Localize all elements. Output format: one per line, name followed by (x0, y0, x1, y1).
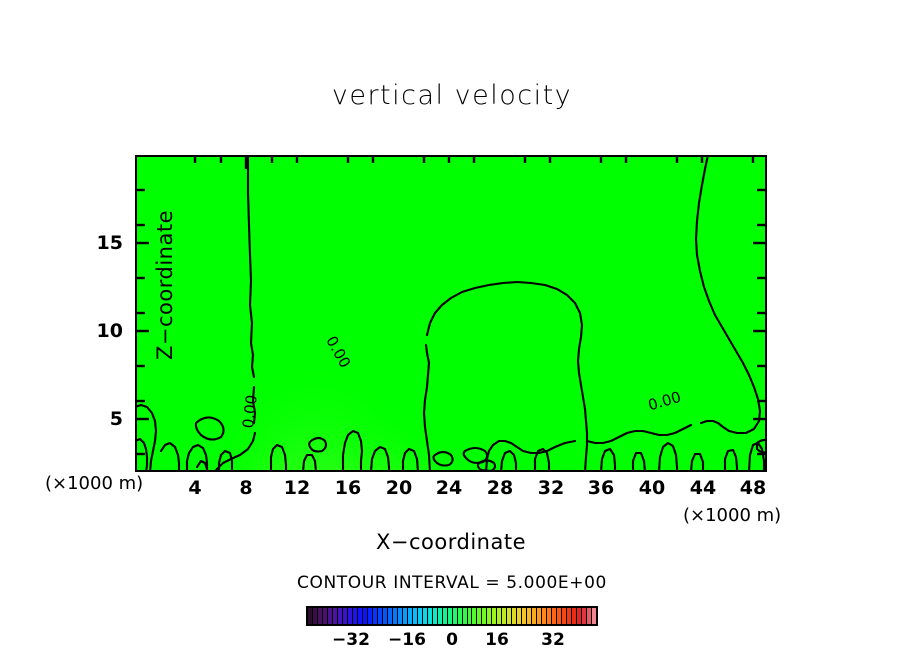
x-axis-title: X−coordinate (135, 530, 767, 554)
y-tick-label-5: 5 (110, 408, 123, 430)
colorbar-tick-label-2: 0 (446, 630, 458, 650)
x-tick-label-32: 32 (538, 477, 564, 499)
x-tick-label-44: 44 (690, 477, 716, 499)
y-axis-unit-note: (×1000 m) (45, 473, 143, 494)
x-tick-label-16: 16 (335, 477, 361, 499)
x-axis-unit-note: (×1000 m) (683, 505, 781, 526)
x-tick-label-48: 48 (740, 477, 766, 499)
page-title: vertical velocity (0, 80, 904, 111)
y-tick-label-15: 15 (97, 232, 123, 254)
x-tick-label-24: 24 (436, 477, 462, 499)
colorbar-tick-label-0: −32 (332, 630, 370, 650)
contour-interval-annotation: CONTOUR INTERVAL = 5.000E+00 (0, 573, 904, 593)
x-tick-label-36: 36 (588, 477, 614, 499)
colorbar-tick-label-1: −16 (388, 630, 426, 650)
contour-field (135, 155, 767, 472)
x-tick-label-40: 40 (639, 477, 665, 499)
colorbar-gradient (306, 606, 598, 626)
x-tick-label-20: 20 (386, 477, 412, 499)
x-tick-label-8: 8 (239, 477, 252, 499)
colorbar-tick-label-4: 32 (541, 630, 565, 650)
colorbar-cell (592, 608, 596, 624)
x-tick-label-12: 12 (284, 477, 310, 499)
x-tick-label-28: 28 (487, 477, 513, 499)
colorbar-tick-label-3: 16 (485, 630, 509, 650)
contour-plot-axes: 0.00 0.00 0.00 5 10 15 4 8 12 16 20 24 2… (135, 155, 767, 472)
y-axis-title: Z−coordinate (153, 145, 177, 425)
y-tick-label-10: 10 (97, 320, 123, 342)
figure-canvas: vertical velocity (0, 0, 904, 654)
x-tick-label-4: 4 (188, 477, 201, 499)
colorbar: −32 −16 0 16 32 (306, 606, 598, 626)
